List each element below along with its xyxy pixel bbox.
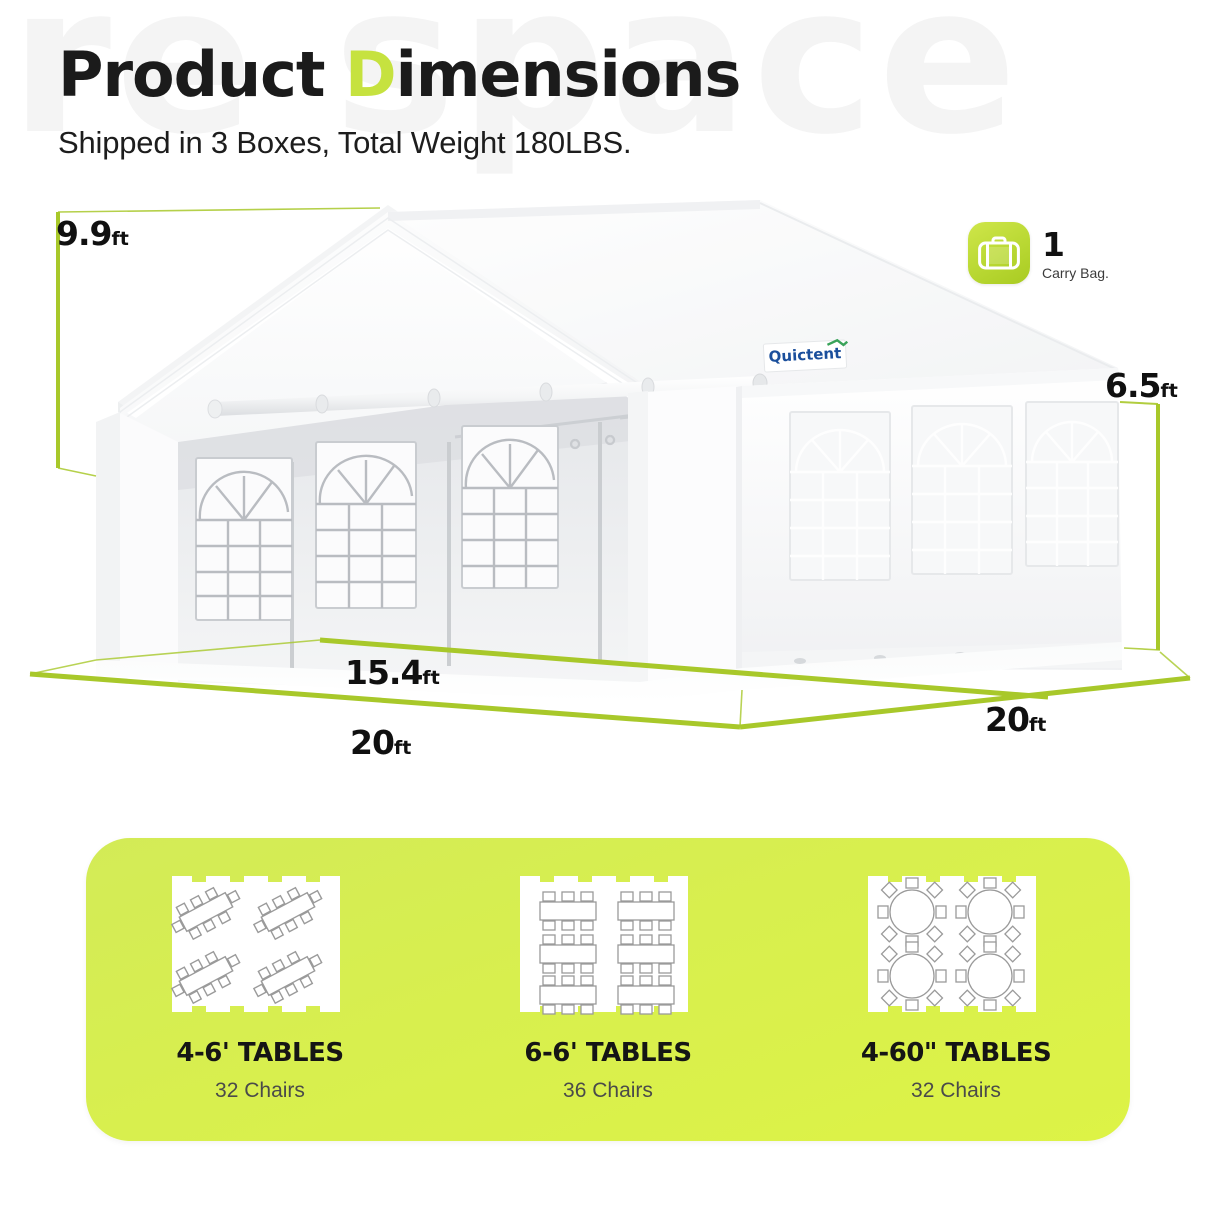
- depth-unit: ft: [1029, 714, 1046, 736]
- capacity-card-chairs: 36 Chairs: [563, 1079, 653, 1103]
- title-accent-letter: D: [345, 38, 395, 111]
- tent-left-flap: [96, 412, 178, 677]
- interior-width-value: 15.4: [345, 653, 422, 692]
- peak-height-unit: ft: [111, 228, 128, 250]
- carry-bag-count: 1: [1042, 228, 1109, 261]
- capacity-card-title: 4-60" TABLES: [861, 1038, 1051, 1068]
- carry-bag-badge: 1 Carry Bag.: [968, 222, 1109, 284]
- dimension-label-interior-width: 15.4ft: [345, 653, 440, 692]
- title-text-post: imensions: [396, 38, 741, 111]
- capacity-card-chairs: 32 Chairs: [215, 1079, 305, 1103]
- page-subtitle: Shipped in 3 Boxes, Total Weight 180LBS.: [58, 125, 740, 161]
- dimension-label-depth: 20ft: [985, 700, 1046, 739]
- capacity-card-chairs: 32 Chairs: [911, 1079, 1001, 1103]
- capacity-card-list: 4-6' TABLES 32 Chairs: [86, 838, 1130, 1141]
- capacity-card: 6-6' TABLES 36 Chairs: [434, 838, 782, 1141]
- carry-bag-icon: [968, 222, 1030, 284]
- product-dimensions-infographic: re space Product Dimensions Shipped in 3…: [0, 0, 1214, 1214]
- title-text-pre: Product: [58, 38, 345, 111]
- brand-logo-badge: Quictent: [763, 340, 847, 372]
- capacity-card-title: 6-6' TABLES: [524, 1038, 691, 1068]
- tent-front-flap: [628, 386, 742, 695]
- dimension-label-front-width: 20ft: [350, 723, 411, 762]
- tent-right-wall: [742, 368, 1122, 670]
- interior-width-unit: ft: [422, 667, 439, 689]
- page-title: Product Dimensions: [58, 44, 740, 106]
- capacity-card: 4-60" TABLES 32 Chairs: [782, 838, 1130, 1141]
- dimension-label-peak-height: 9.9ft: [56, 214, 129, 253]
- capacity-card-title: 4-6' TABLES: [176, 1038, 343, 1068]
- eave-height-unit: ft: [1160, 380, 1177, 402]
- carry-bag-label: Carry Bag.: [1042, 266, 1109, 280]
- front-width-unit: ft: [394, 737, 411, 759]
- side-window: [790, 402, 1118, 580]
- header: Product Dimensions Shipped in 3 Boxes, T…: [58, 44, 740, 161]
- depth-line: [740, 678, 1190, 727]
- depth-value: 20: [985, 700, 1029, 739]
- capacity-card: 4-6' TABLES 32 Chairs: [86, 838, 434, 1141]
- front-width-value: 20: [350, 723, 394, 762]
- carry-bag-text: 1 Carry Bag.: [1042, 226, 1109, 280]
- peak-height-value: 9.9: [56, 214, 111, 253]
- eave-height-value: 6.5: [1105, 366, 1160, 405]
- layout-diagram-rect-grid: [508, 868, 708, 1020]
- svg-text:Quictent: Quictent: [768, 344, 841, 366]
- dimension-label-eave-height: 6.5ft: [1105, 366, 1178, 405]
- layout-diagram-round-tables: [856, 868, 1056, 1020]
- layout-diagram-rect-angled: [160, 868, 360, 1020]
- capacity-panel: 4-6' TABLES 32 Chairs: [86, 838, 1130, 1141]
